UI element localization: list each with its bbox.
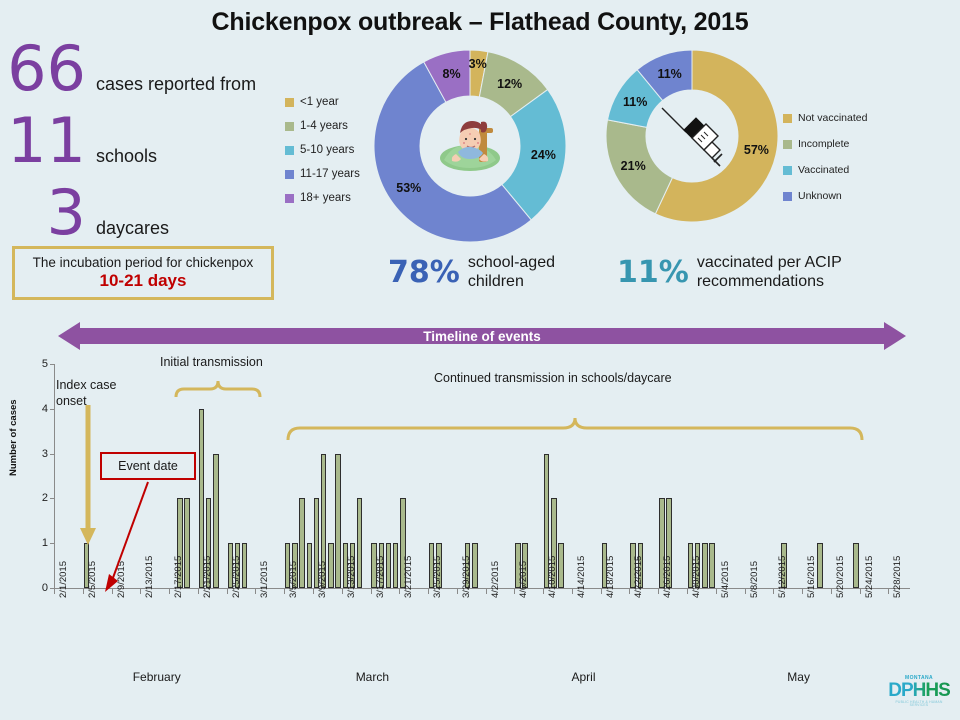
x-tick-label: 2/17/2015 [173, 556, 184, 598]
donut-ages-body: 3%12%24%53%8% [372, 48, 568, 244]
x-tick-label: 5/16/2015 [806, 556, 817, 598]
x-tick-mark [428, 589, 429, 594]
summary-vaccinated-text: vaccinated per ACIP recommendations [697, 254, 842, 292]
epi-curve-bar[interactable] [393, 543, 398, 588]
legend-item[interactable]: <1 year [285, 96, 360, 108]
donut-slice-label: 57% [744, 143, 769, 157]
stat-cases: 66 cases reported from [0, 38, 300, 100]
x-tick-label: 3/13/2015 [346, 556, 357, 598]
stat-daycares-label: daycares [96, 218, 169, 239]
age-donut-svg [372, 48, 568, 244]
x-tick-mark [255, 589, 256, 594]
x-tick-label: 4/6/2015 [518, 561, 529, 598]
y-tick-label: 1 [30, 537, 48, 549]
y-tick-label: 0 [30, 582, 48, 594]
epi-curve-bar[interactable] [817, 543, 822, 588]
epi-curve-bar[interactable] [386, 543, 391, 588]
x-tick-label: 4/26/2015 [662, 556, 673, 598]
legend-swatch-icon [285, 98, 294, 107]
legend-item-label: Unknown [798, 190, 842, 202]
x-tick-mark [601, 589, 602, 594]
x-tick-label: 2/5/2015 [87, 561, 98, 598]
x-tick-label: 3/17/2015 [375, 556, 386, 598]
epi-curve-bar[interactable] [299, 498, 304, 588]
summary-school-aged-line2: children [468, 273, 524, 290]
x-tick-label: 4/18/2015 [605, 556, 616, 598]
x-tick-mark [572, 589, 573, 594]
legend-swatch-icon [783, 140, 792, 149]
x-tick-label: 3/21/2015 [403, 556, 414, 598]
x-tick-mark [140, 589, 141, 594]
x-tick-mark [831, 589, 832, 594]
epi-curve-y-axis-label: Number of cases [8, 399, 19, 476]
x-tick-mark [399, 589, 400, 594]
legend-item-label: Incomplete [798, 138, 849, 150]
x-tick-mark [629, 589, 630, 594]
timeline-banner-label: Timeline of events [58, 322, 906, 350]
x-tick-mark [169, 589, 170, 594]
x-tick-mark [486, 589, 487, 594]
legend-swatch-icon [783, 166, 792, 175]
donut-slice-label: 21% [621, 159, 646, 173]
donut-vax-body: 57%21%11%11% [604, 48, 780, 224]
x-tick-mark [716, 589, 717, 594]
legend-item[interactable]: Not vaccinated [783, 112, 867, 124]
stat-daycares: 3 daycares [0, 182, 300, 244]
month-label: May [787, 670, 810, 684]
vax-donut-svg [604, 48, 780, 224]
legend-item[interactable]: Incomplete [783, 138, 867, 150]
x-tick-mark [198, 589, 199, 594]
legend-item-label: <1 year [300, 96, 339, 108]
annotation-continued-transmission: Continued transmission in schools/daycar… [434, 371, 672, 385]
legend-swatch-icon [285, 194, 294, 203]
x-tick-label: 5/12/2015 [777, 556, 788, 598]
x-tick-mark [112, 589, 113, 594]
donut-slice-label: 8% [443, 67, 461, 81]
x-tick-label: 5/8/2015 [749, 561, 760, 598]
x-tick-mark [543, 589, 544, 594]
x-tick-label: 2/9/2015 [116, 561, 127, 598]
legend-swatch-icon [285, 170, 294, 179]
stat-schools: 11 schools [0, 110, 300, 172]
x-tick-label: 3/1/2015 [259, 561, 270, 598]
month-label: March [356, 670, 389, 684]
stat-schools-number: 11 [0, 110, 86, 172]
x-tick-label: 4/22/2015 [633, 556, 644, 598]
epi-curve-bar[interactable] [335, 454, 340, 588]
epi-curve-bar[interactable] [472, 543, 477, 588]
incubation-text: The incubation period for chickenpox [33, 255, 254, 270]
legend-swatch-icon [783, 114, 792, 123]
donut-slice-label: 11% [623, 95, 647, 109]
x-tick-label: 2/21/2015 [202, 556, 213, 598]
month-label: February [133, 670, 181, 684]
x-tick-label: 5/20/2015 [835, 556, 846, 598]
legend-swatch-icon [285, 122, 294, 131]
donut-slice-label: 12% [497, 77, 522, 91]
x-tick-label: 3/25/2015 [432, 556, 443, 598]
y-tick-label: 2 [30, 492, 48, 504]
legend-swatch-icon [285, 146, 294, 155]
event-date-callout: Event date [100, 452, 196, 480]
x-tick-label: 5/4/2015 [720, 561, 731, 598]
summary-school-aged-pct: 78% [388, 258, 460, 288]
y-tick-label: 3 [30, 448, 48, 460]
epi-curve-chart: Number of cases 012345 2/1/20152/5/20152… [0, 352, 960, 692]
legend-item-label: 18+ years [300, 192, 351, 204]
stat-cases-label: cases reported from [96, 74, 256, 95]
epi-curve-bar[interactable] [853, 543, 858, 588]
legend-item-label: Vaccinated [798, 164, 849, 176]
x-tick-mark [802, 589, 803, 594]
summary-vaccinated: 11% vaccinated per ACIP recommendations [617, 254, 842, 292]
x-tick-label: 4/10/2015 [547, 556, 558, 598]
legend-item-label: 5-10 years [300, 144, 354, 156]
month-label: April [571, 670, 595, 684]
summary-school-aged-text: school-aged children [468, 254, 555, 292]
x-tick-mark [888, 589, 889, 594]
x-tick-mark [658, 589, 659, 594]
x-tick-mark [313, 589, 314, 594]
x-tick-label: 3/9/2015 [317, 561, 328, 598]
donut-slice-label: 24% [531, 148, 556, 162]
infographic-canvas: Chickenpox outbreak – Flathead County, 2… [0, 0, 960, 720]
legend-item[interactable]: 11-17 years [285, 168, 360, 180]
epi-curve-bar[interactable] [702, 543, 707, 588]
dphhs-logo: MONTANA DPHHS PUBLIC HEALTH & HUMAN SERV… [888, 676, 950, 714]
logo-sub-text: PUBLIC HEALTH & HUMAN SERVICES [888, 701, 950, 708]
x-tick-mark [773, 589, 774, 594]
donut-slice-label: 3% [469, 57, 487, 71]
epi-curve-bar[interactable] [558, 543, 563, 588]
epi-curve-bar[interactable] [307, 543, 312, 588]
legend-item-label: Not vaccinated [798, 112, 867, 124]
x-tick-mark [227, 589, 228, 594]
epi-curve-bar[interactable] [184, 498, 189, 588]
summary-vaccinated-pct: 11% [617, 258, 689, 288]
timeline-banner: Timeline of events [58, 322, 906, 350]
x-tick-mark [457, 589, 458, 594]
annotation-index-case: Index case onset [56, 378, 116, 409]
donut-slice-label: 53% [396, 181, 421, 195]
stat-schools-label: schools [96, 146, 157, 167]
x-tick-mark [342, 589, 343, 594]
incubation-range: 10-21 days [100, 271, 187, 291]
y-tick-label: 4 [30, 403, 48, 415]
x-tick-label: 2/25/2015 [231, 556, 242, 598]
x-tick-mark [860, 589, 861, 594]
epi-curve-bar[interactable] [709, 543, 714, 588]
legend-item-label: 11-17 years [300, 168, 360, 180]
summary-vaccinated-line1: vaccinated per ACIP [697, 254, 842, 271]
x-tick-label: 5/24/2015 [864, 556, 875, 598]
x-tick-label: 4/30/2015 [691, 556, 702, 598]
annotation-index-case-line1: Index case [56, 378, 116, 392]
vaccination-status-donut-chart: 57%21%11%11% [604, 48, 780, 224]
epi-curve-bar[interactable] [213, 454, 218, 588]
epi-curve-bar[interactable] [328, 543, 333, 588]
x-tick-label: 3/29/2015 [461, 556, 472, 598]
x-tick-mark [54, 589, 55, 594]
x-tick-label: 4/14/2015 [576, 556, 587, 598]
legend-item[interactable]: 5-10 years [285, 144, 360, 156]
x-tick-label: 4/2/2015 [490, 561, 501, 598]
logo-main-text: DPHHS [888, 681, 950, 700]
epi-curve-bar[interactable] [242, 543, 247, 588]
age-distribution-donut-chart: 3%12%24%53%8% [372, 48, 568, 244]
x-tick-mark [745, 589, 746, 594]
legend-item[interactable]: Vaccinated [783, 164, 867, 176]
incubation-period-box: The incubation period for chickenpox 10-… [12, 246, 274, 300]
legend-item[interactable]: 1-4 years [285, 120, 360, 132]
legend-item[interactable]: 18+ years [285, 192, 360, 204]
stat-cases-number: 66 [0, 38, 86, 100]
x-tick-mark [371, 589, 372, 594]
annotation-initial-transmission: Initial transmission [160, 355, 263, 369]
legend-item-label: 1-4 years [300, 120, 348, 132]
legend-swatch-icon [783, 192, 792, 201]
summary-school-aged: 78% school-aged children [388, 254, 555, 292]
x-tick-label: 3/5/2015 [288, 561, 299, 598]
annotation-index-case-line2: onset [56, 394, 87, 408]
page-title: Chickenpox outbreak – Flathead County, 2… [0, 8, 960, 37]
summary-vaccinated-line2: recommendations [697, 273, 824, 290]
summary-school-aged-line1: school-aged [468, 254, 555, 271]
y-tick-label: 5 [30, 358, 48, 370]
x-tick-mark [514, 589, 515, 594]
donut-slice-label: 11% [657, 67, 681, 81]
legend-vaccination-status: Not vaccinatedIncompleteVaccinatedUnknow… [783, 112, 867, 216]
x-tick-mark [687, 589, 688, 594]
x-tick-mark [83, 589, 84, 594]
x-tick-label: 2/1/2015 [58, 561, 69, 598]
legend-age-groups: <1 year1-4 years5-10 years11-17 years18+… [285, 96, 360, 216]
legend-item[interactable]: Unknown [783, 190, 867, 202]
x-tick-label: 5/28/2015 [892, 556, 903, 598]
x-tick-label: 2/13/2015 [144, 556, 155, 598]
stat-daycares-number: 3 [0, 182, 86, 244]
epi-curve-bar[interactable] [357, 498, 362, 588]
x-tick-mark [284, 589, 285, 594]
